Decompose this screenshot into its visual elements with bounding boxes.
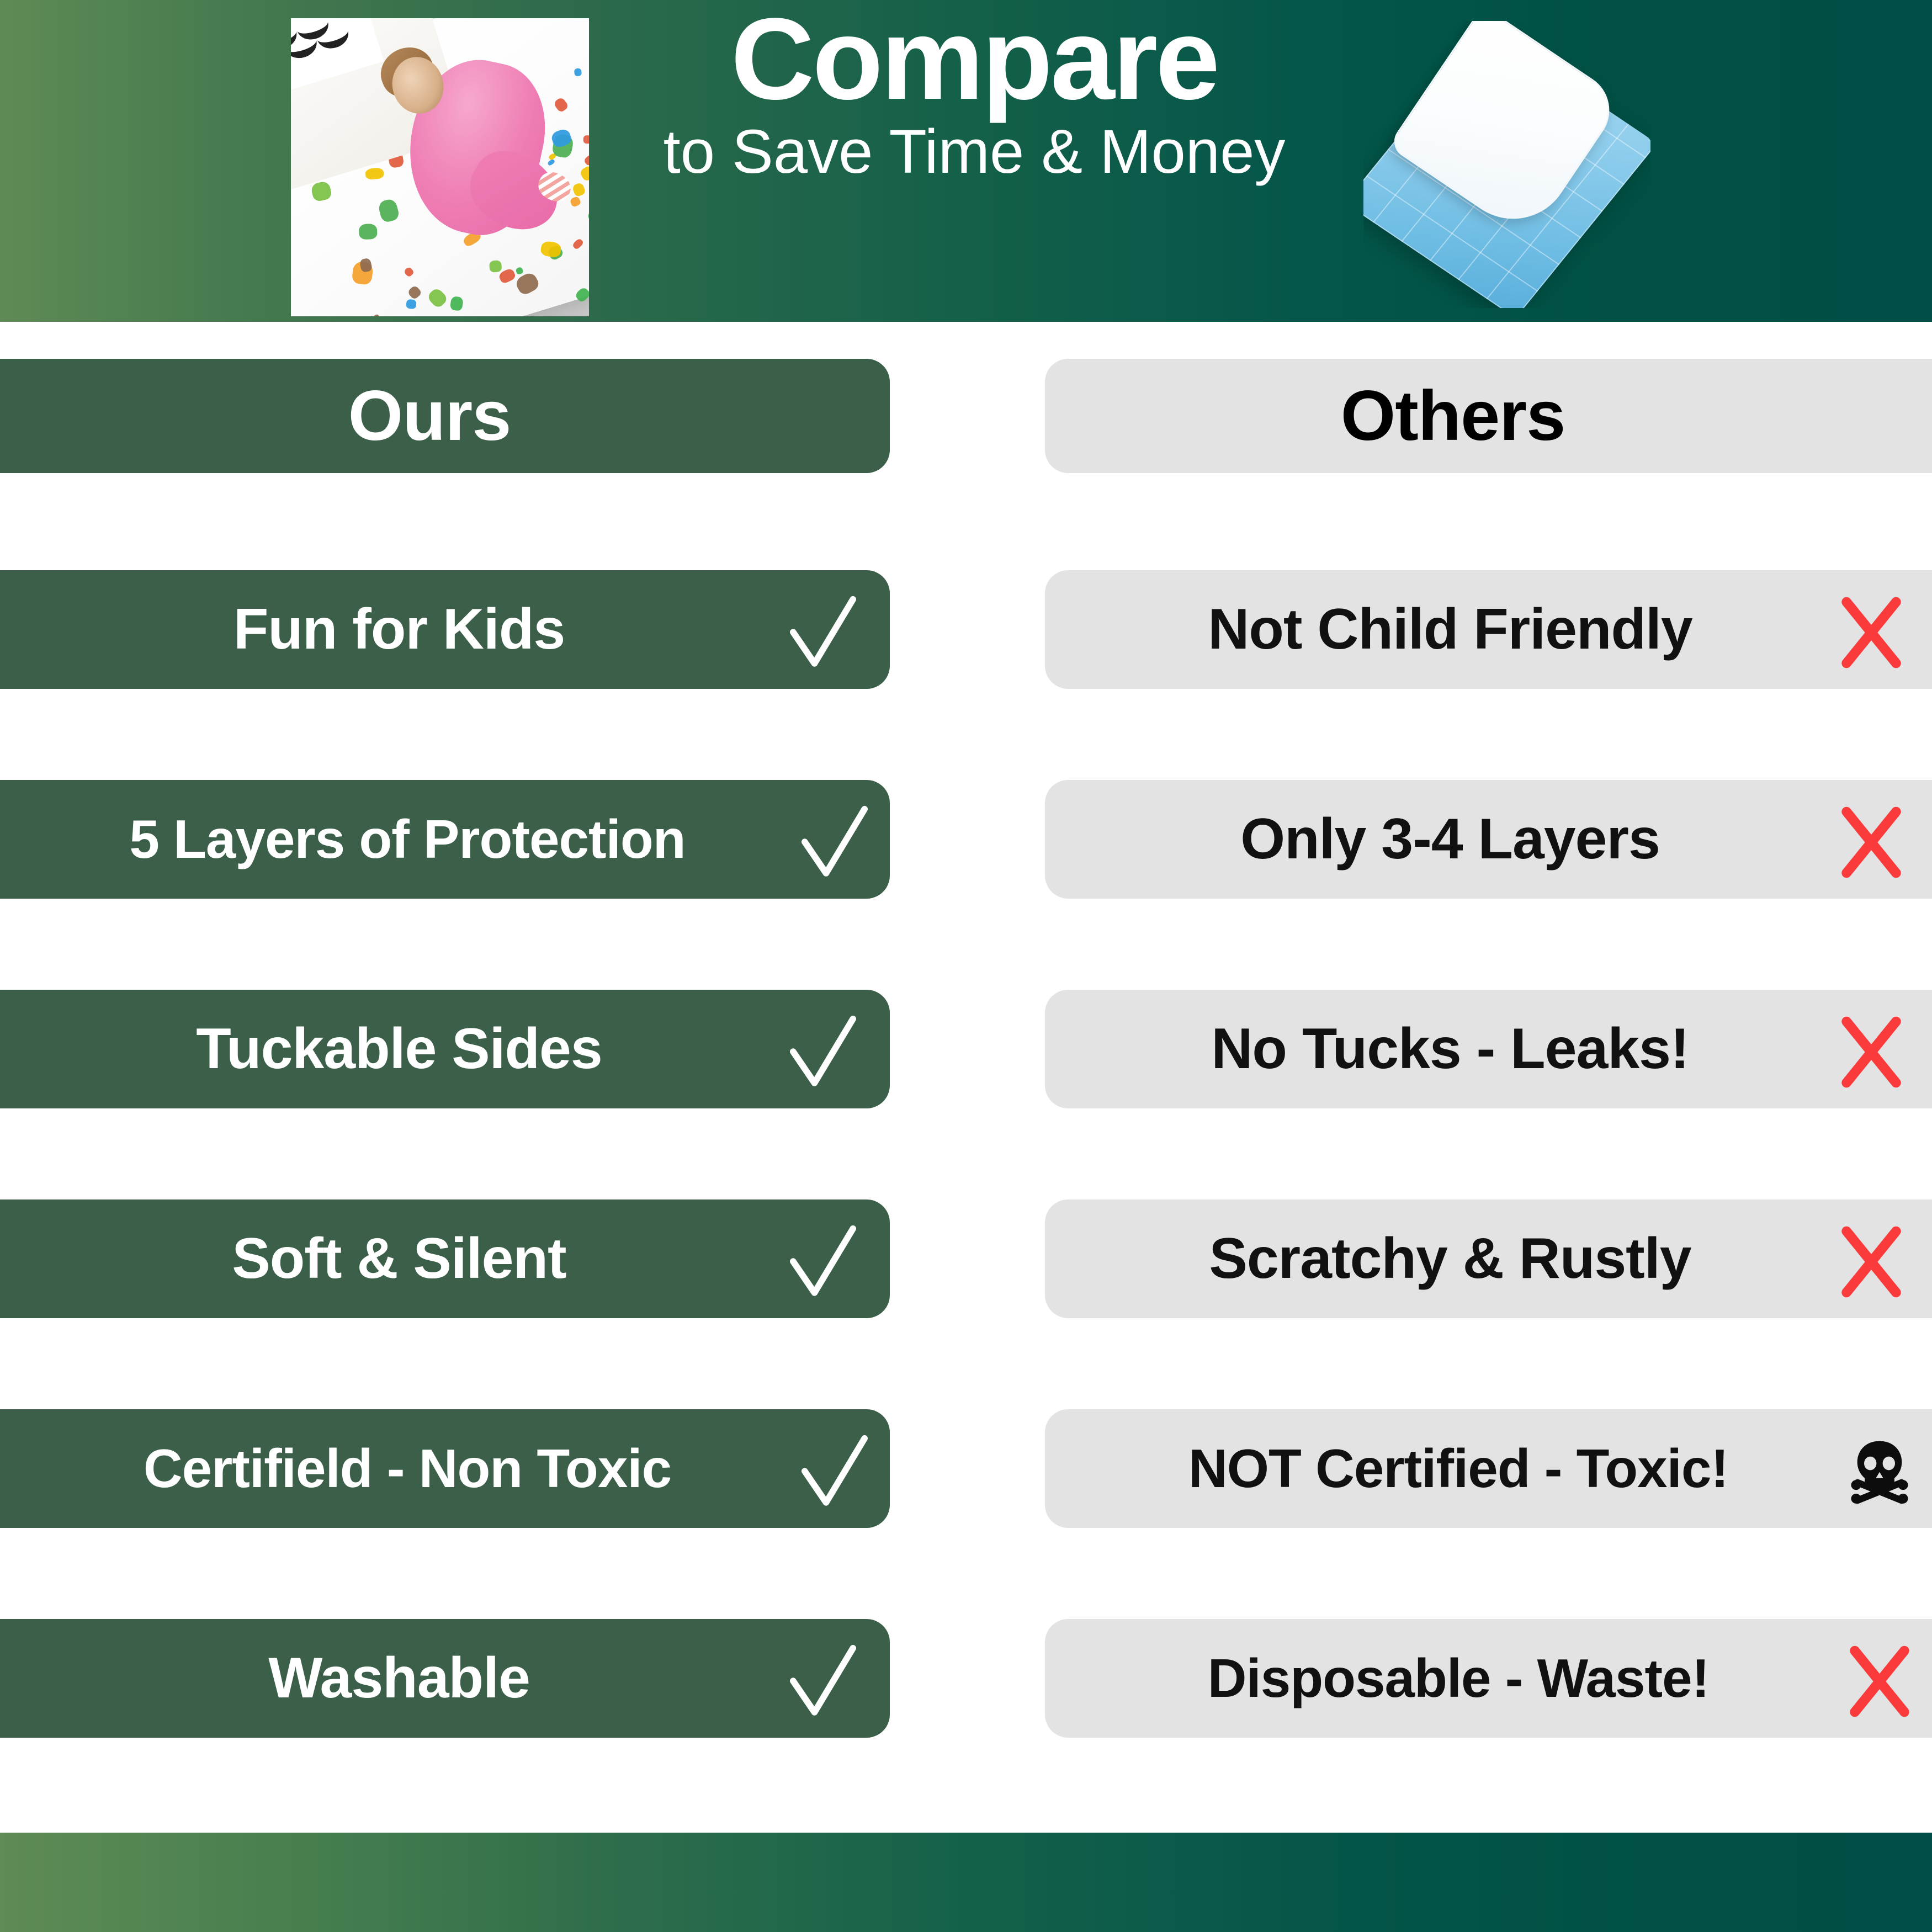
table-row-others: Only 3-4 Layers (1045, 780, 1932, 899)
table-row-ours: Fun for Kids (0, 570, 890, 689)
footer-band (0, 1833, 1932, 1932)
table-row-others: Disposable - Waste! (1045, 1619, 1932, 1738)
column-header-others: Others (1045, 359, 1932, 473)
feature-label-ours: Soft & Silent (17, 1229, 782, 1288)
feature-label-ours: 5 Layers of Protection (17, 811, 798, 868)
page-title: Compare (635, 4, 1314, 113)
header-title-block: Compare to Save Time & Money (635, 4, 1314, 183)
cross-icon (1830, 591, 1913, 668)
table-row-ours: Certifield - Non Toxic (0, 1409, 890, 1528)
column-header-ours: Ours (0, 359, 890, 473)
table-row-others: Not Child Friendly (1045, 570, 1932, 689)
table-row-others: Scratchy & Rustly (1045, 1199, 1932, 1318)
check-icon (782, 1634, 864, 1722)
column-header-ours-label: Ours (17, 381, 864, 452)
feature-label-others: Disposable - Waste! (1070, 1650, 1846, 1707)
feature-label-ours: Fun for Kids (17, 599, 782, 659)
cross-icon (1830, 1010, 1913, 1088)
feature-label-others: Only 3-4 Layers (1070, 809, 1830, 869)
column-header-others-label: Others (1070, 381, 1913, 452)
feature-label-ours: Washable (17, 1648, 782, 1708)
feature-label-others: No Tucks - Leaks! (1070, 1019, 1830, 1079)
table-row-others: NOT Certified - Toxic! (1045, 1409, 1932, 1528)
feature-label-others: Not Child Friendly (1070, 599, 1830, 659)
feature-label-others: Scratchy & Rustly (1070, 1229, 1830, 1288)
table-row-ours: Washable (0, 1619, 890, 1738)
check-icon (782, 586, 864, 673)
table-row-ours: 5 Layers of Protection (0, 780, 890, 899)
table-row-ours: Soft & Silent (0, 1199, 890, 1318)
comparison-table: Ours Others Fun for Kids Not Child Frien… (0, 322, 1932, 1833)
cross-icon (1830, 800, 1913, 878)
cross-icon (1846, 1639, 1913, 1717)
check-icon (782, 1215, 864, 1302)
table-row-ours: Tuckable Sides (0, 990, 890, 1108)
header-banner: Compare to Save Time & Money (0, 0, 1932, 322)
check-icon (798, 795, 864, 883)
product-pad-photo (1363, 21, 1650, 308)
feature-label-others: NOT Certified - Toxic! (1070, 1441, 1846, 1497)
feature-label-ours: Certifield - Non Toxic (17, 1441, 798, 1497)
cross-icon (1830, 1220, 1913, 1298)
check-icon (798, 1425, 864, 1512)
table-row-others: No Tucks - Leaks! (1045, 990, 1932, 1108)
skull-and-crossbones-icon (1846, 1434, 1913, 1504)
feature-label-ours: Tuckable Sides (17, 1019, 782, 1079)
page-subtitle: to Save Time & Money (635, 121, 1314, 183)
child-on-mat-photo (291, 18, 589, 316)
check-icon (782, 1005, 864, 1092)
